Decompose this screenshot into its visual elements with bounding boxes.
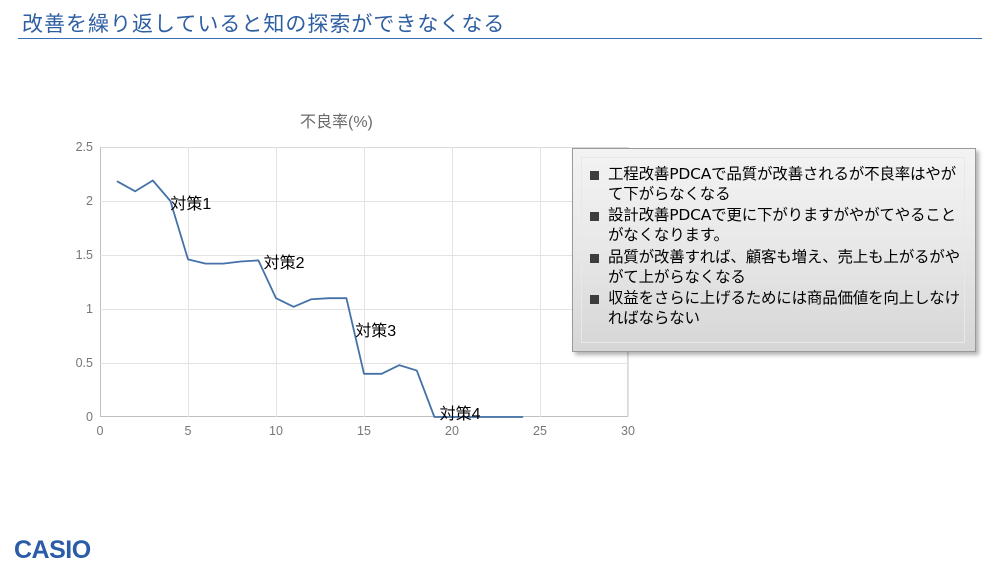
y-axis-tick-label: 0.5 <box>76 356 93 370</box>
callout-bullet-text: 品質が改善すれば、顧客も増え、売上も上がるがやがて上がらなくなる <box>608 247 960 287</box>
callout-bullet-item: 収益をさらに上げるためには商品価値を向上しなければならない <box>588 288 960 328</box>
chart-title: 不良率(%) <box>300 108 373 132</box>
chart-annotation-4: 対策4 <box>440 400 481 424</box>
square-bullet-icon <box>590 212 599 221</box>
x-axis-tick-label: 0 <box>97 424 104 438</box>
y-axis-tick-label: 1 <box>86 302 93 316</box>
x-axis-tick-label: 15 <box>357 424 371 438</box>
chart-annotation-2: 対策2 <box>264 249 305 273</box>
series-line <box>100 147 628 417</box>
callout-bullet-text: 設計改善PDCAで更に下がりますがやがてやることがなくなります。 <box>608 205 960 245</box>
summary-callout-box: 工程改善PDCAで品質が改善されるが不良率はやがて下がらなくなる設計改善PDCA… <box>572 148 976 352</box>
callout-bullet-text: 収益をさらに上げるためには商品価値を向上しなければならない <box>608 288 960 328</box>
chart-annotation-3: 対策3 <box>355 317 396 341</box>
square-bullet-icon <box>590 254 599 263</box>
x-axis-tick-label: 25 <box>533 424 547 438</box>
chart-plot-area: 00.511.522.5 051015202530 対策1対策2対策3対策4 <box>100 147 628 417</box>
callout-bullet-text: 工程改善PDCAで品質が改善されるが不良率はやがて下がらなくなる <box>608 164 960 204</box>
casio-logo: CASIO <box>14 536 91 565</box>
y-axis-tick-label: 2.5 <box>76 140 93 154</box>
callout-bullet-item: 品質が改善すれば、顧客も増え、売上も上がるがやがて上がらなくなる <box>588 247 960 287</box>
x-axis-tick-label: 30 <box>621 424 635 438</box>
summary-callout-inner: 工程改善PDCAで品質が改善されるが不良率はやがて下がらなくなる設計改善PDCA… <box>581 157 965 343</box>
callout-bullet-item: 工程改善PDCAで品質が改善されるが不良率はやがて下がらなくなる <box>588 164 960 204</box>
callout-bullet-item: 設計改善PDCAで更に下がりますがやがてやることがなくなります。 <box>588 205 960 245</box>
square-bullet-icon <box>590 295 599 304</box>
chart-annotation-1: 対策1 <box>170 190 211 214</box>
y-axis-tick-label: 2 <box>86 194 93 208</box>
square-bullet-icon <box>590 171 599 180</box>
y-axis-tick-label: 1.5 <box>76 248 93 262</box>
x-axis-tick-label: 20 <box>445 424 459 438</box>
y-axis-tick-label: 0 <box>86 410 93 424</box>
x-axis-tick-label: 10 <box>269 424 283 438</box>
x-axis-tick-label: 5 <box>185 424 192 438</box>
